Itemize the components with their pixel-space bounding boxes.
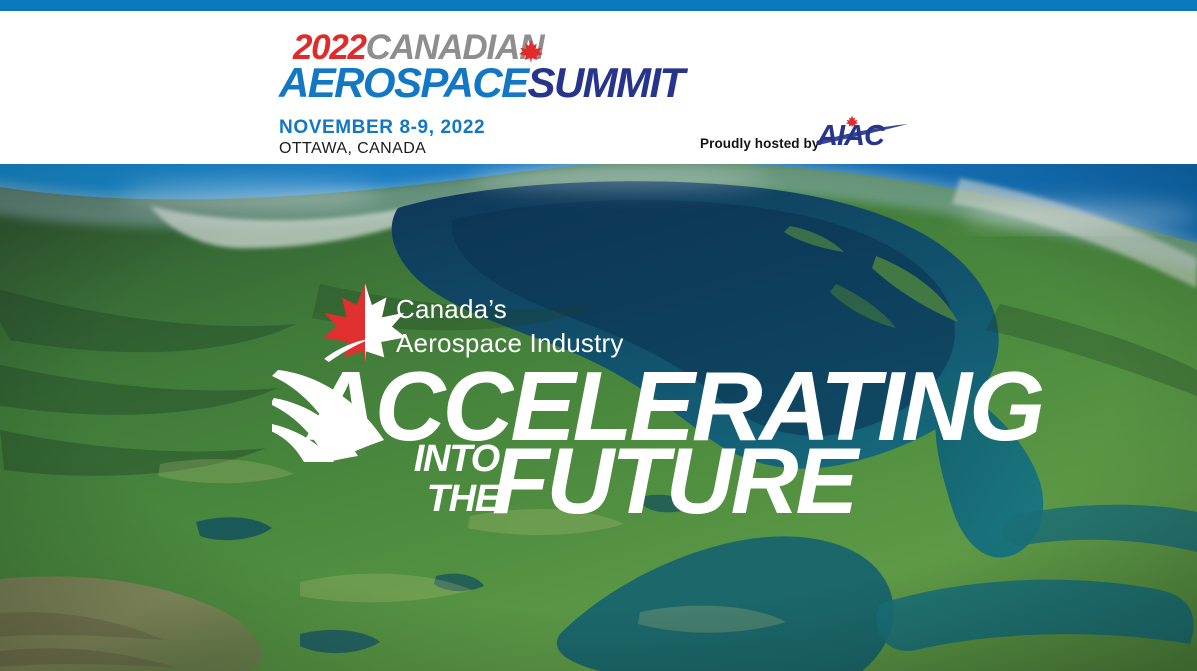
header-band: 2022CANADIAN AEROSPACESUMMIT NOVEMBER 8-… <box>0 11 1197 164</box>
aiac-logo[interactable]: AIAC <box>813 114 923 154</box>
conference-banner: 2022CANADIAN AEROSPACESUMMIT NOVEMBER 8-… <box>0 0 1197 671</box>
top-accent-bar <box>0 0 1197 11</box>
event-location: OTTAWA, CANADA <box>279 139 485 159</box>
hero-headline-future: FUTURE <box>492 434 855 528</box>
hosted-by-label: Proudly hosted by <box>700 135 819 153</box>
hero-tagline-line-1: Canada’s <box>396 292 624 326</box>
satellite-earth-photo: Canada’s Aerospace Industry ACCELERATING… <box>0 164 1197 671</box>
hero-headline-group: Canada’s Aerospace Industry ACCELERATING… <box>0 164 1197 671</box>
hero-headline-into-the: INTO THE <box>393 440 499 518</box>
hero-tagline: Canada’s Aerospace Industry <box>396 292 624 360</box>
event-logo: 2022CANADIAN AEROSPACESUMMIT <box>279 29 709 109</box>
event-details: NOVEMBER 8-9, 2022 OTTAWA, CANADA <box>279 117 485 159</box>
event-dates: NOVEMBER 8-9, 2022 <box>279 117 485 139</box>
hosted-by-text: Proudly hosted by <box>700 136 819 151</box>
event-summit: SUMMIT <box>528 59 684 106</box>
event-logo-line-2: AEROSPACESUMMIT <box>279 60 684 106</box>
hero-headline-the: THE <box>393 480 499 518</box>
event-aerospace: AEROSPACE <box>279 59 528 106</box>
hero-headline-into: INTO <box>414 438 499 480</box>
